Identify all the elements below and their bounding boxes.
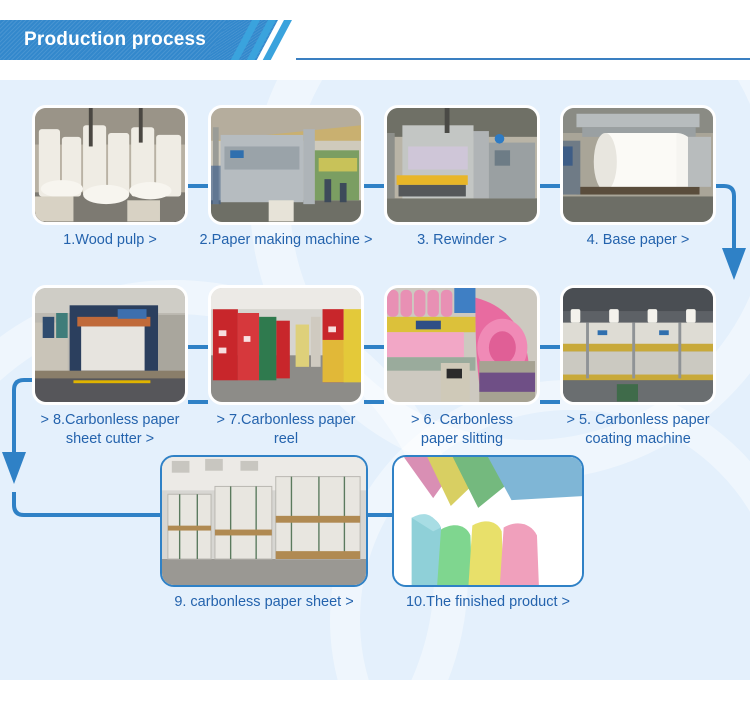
step-3-image <box>384 105 540 225</box>
step-6-label: > 6. Carbonless paper slitting <box>376 411 548 449</box>
step-8-label: > 8.Carbonless paper sheet cutter > <box>24 411 196 449</box>
step-6-image <box>384 285 540 405</box>
step-1-label: 1.Wood pulp > <box>26 231 194 250</box>
step-1-image <box>32 105 188 225</box>
header-rule <box>296 58 750 60</box>
step-5-image <box>560 285 716 405</box>
step-3-label: 3. Rewinder > <box>378 231 546 250</box>
step-9-label: 9. carbonless paper sheet > <box>150 593 378 612</box>
step-9-image <box>160 455 368 587</box>
step-8-image <box>32 285 188 405</box>
step-2-label: 2.Paper making machine > <box>190 231 382 250</box>
step-7-image <box>208 285 364 405</box>
step-10-image <box>392 455 584 587</box>
step-2-image <box>208 105 364 225</box>
step-4-label: 4. Base paper > <box>554 231 722 250</box>
step-4-image <box>560 105 716 225</box>
step-10-label: 10.The finished product > <box>382 593 594 612</box>
page-title: Production process <box>24 29 206 51</box>
process-panel: 1.Wood pulp > 2.Paper making machine <box>0 80 750 680</box>
page-header: Production process <box>0 20 750 60</box>
step-5-label: > 5. Carbonless paper coating machine <box>552 411 724 449</box>
step-7-label: > 7.Carbonless paper reel <box>200 411 372 449</box>
